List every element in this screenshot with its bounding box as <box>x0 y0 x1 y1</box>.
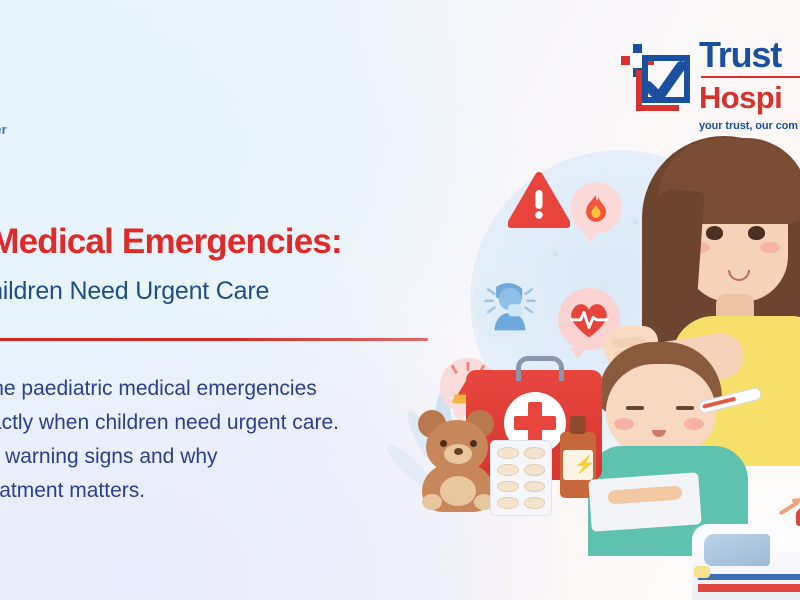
hero-description: Understand the paediatric medical emerge… <box>0 372 339 508</box>
description-line: Learn the key warning signs and why <box>0 440 339 474</box>
fever-flame-icon <box>570 182 622 234</box>
pill-blister-pack <box>490 440 552 516</box>
sparkle-decor: ✦ <box>550 248 561 261</box>
warning-triangle-icon <box>508 170 570 232</box>
logo-underline-rule <box>701 76 800 78</box>
eyebrow-subtitle-clipped: Healthcare Provider <box>0 122 7 137</box>
syrup-bottle-cap <box>570 416 586 434</box>
page-title: Paediatric Medical Emergencies: <box>0 222 342 262</box>
ambulance-emergency-light <box>796 508 800 526</box>
title-divider <box>0 338 428 341</box>
coughing-child-icon <box>472 268 548 344</box>
description-line: immediate treatment matters. <box>0 474 339 508</box>
lightning-bolt-icon: ⚡ <box>574 456 595 473</box>
logo-name-primary: Trust <box>699 36 800 74</box>
description-line: Understand the paediatric medical emerge… <box>0 372 339 406</box>
logo-name-secondary: Hospi <box>699 82 800 114</box>
logo-checkbox-cross-icon <box>617 40 691 114</box>
hero-illustration: ✦ ✦ ✦ ✦ <box>430 120 800 600</box>
description-line: and know exactly when children need urge… <box>0 406 339 440</box>
ambulance-vehicle <box>692 500 800 600</box>
logo-wordmark: Trust Hospi your trust, our com <box>699 36 800 132</box>
article-hero-banner: Emergencies Healthcare Provider Trust Ho… <box>0 0 800 600</box>
page-subtitle: When Children Need Urgent Care <box>0 277 269 306</box>
